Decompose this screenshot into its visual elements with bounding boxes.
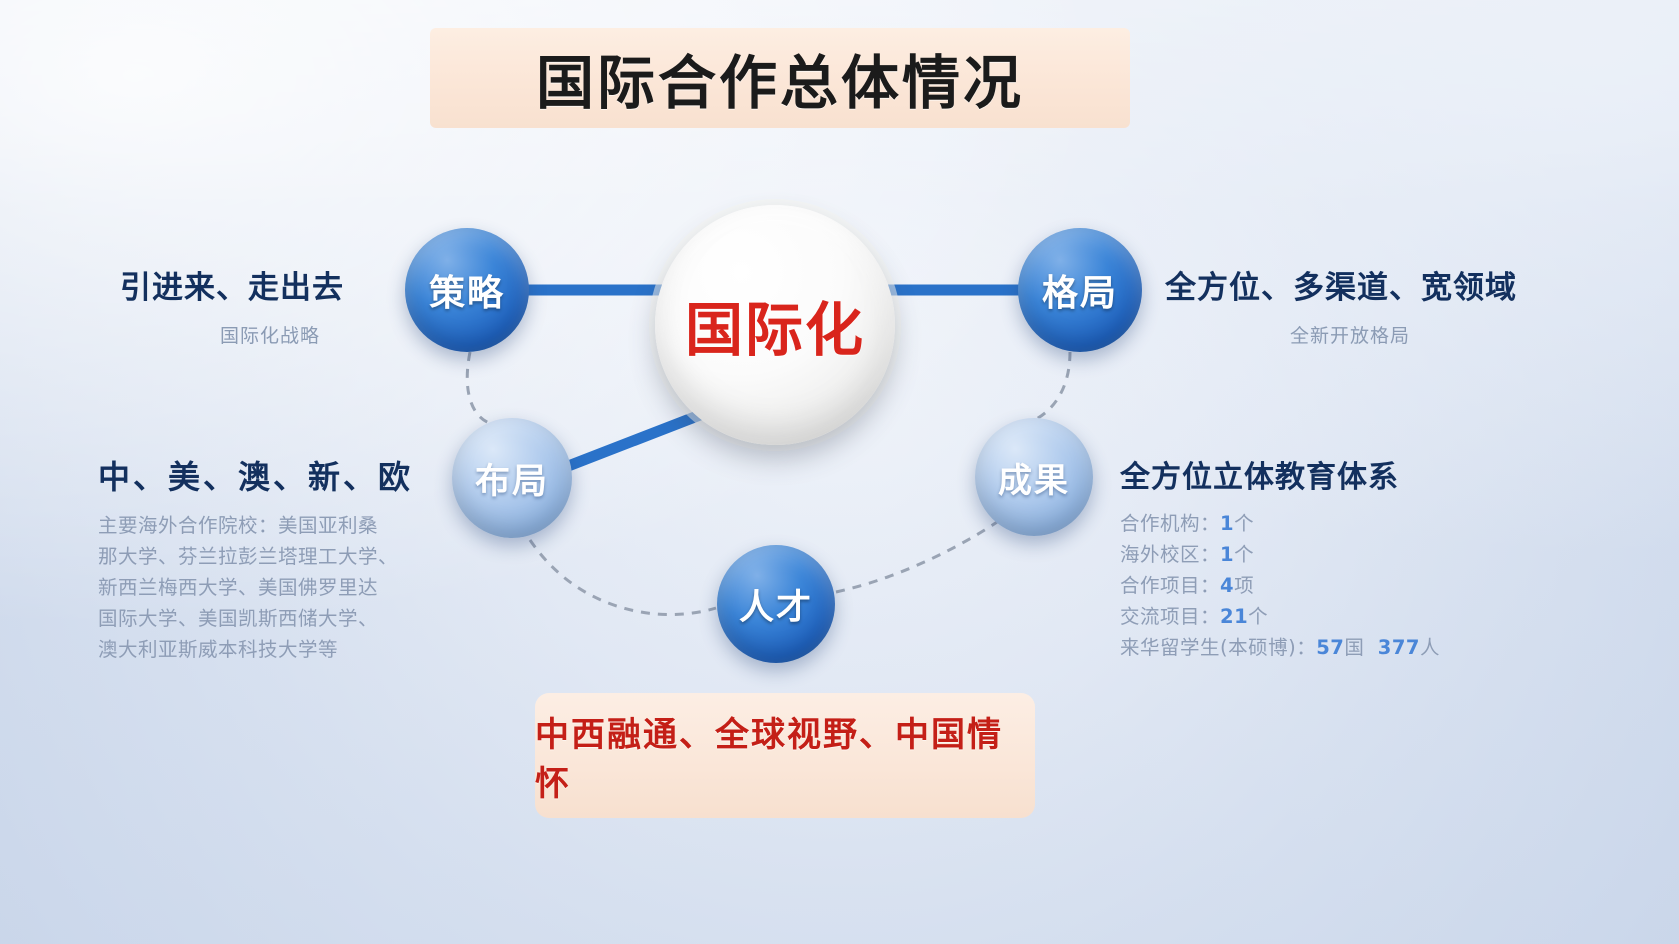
students-label: 来华留学生(本硕博)： <box>1120 636 1316 659</box>
students-country-count: 57 <box>1316 636 1344 659</box>
pattern-subtext: 全新开放格局 <box>1165 321 1535 348</box>
link-celue-buju <box>467 352 492 424</box>
stat-label: 合作项目： <box>1120 574 1220 597</box>
layout-line: 主要海外合作院校：美国亚利桑 <box>98 510 468 541</box>
link-buju-rencai <box>530 540 716 615</box>
results-heading: 全方位立体教育体系 <box>1120 452 1540 496</box>
node-celue-label: 策略 <box>429 264 505 316</box>
stat-unit: 个 <box>1248 605 1268 628</box>
stat-row-students: 来华留学生(本硕博)：57国 377人 <box>1120 632 1540 663</box>
link-rencai-chengguo <box>836 520 1000 592</box>
stat-value: 1 <box>1220 543 1234 566</box>
stat-label: 交流项目： <box>1120 605 1220 628</box>
block-layout: 中、美、澳、新、欧 主要海外合作院校：美国亚利桑 那大学、芬兰拉彭兰塔理工大学、… <box>98 452 468 665</box>
hub-label: 国际化 <box>685 283 865 367</box>
block-pattern: 全方位、多渠道、宽领域 全新开放格局 <box>1165 262 1535 348</box>
block-results: 全方位立体教育体系 合作机构：1个 海外校区：1个 合作项目：4项 交流项目：2… <box>1120 452 1540 663</box>
layout-partner-list: 主要海外合作院校：美国亚利桑 那大学、芬兰拉彭兰塔理工大学、 新西兰梅西大学、美… <box>98 510 468 665</box>
strategy-heading: 引进来、走出去 <box>120 262 420 307</box>
stat-row: 合作机构：1个 <box>1120 508 1540 539</box>
link-geju-chengguo <box>1030 352 1070 422</box>
slogan-text: 中西融通、全球视野、中国情怀 <box>535 707 1035 805</box>
slide-canvas: 国际合作总体情况 国际化 策略 格局 布局 成果 人才 引进来、走出去 国际化战… <box>0 0 1679 944</box>
results-stat-list: 合作机构：1个 海外校区：1个 合作项目：4项 交流项目：21个 来华留学生(本… <box>1120 508 1540 663</box>
stat-row: 交流项目：21个 <box>1120 601 1540 632</box>
layout-line: 澳大利亚斯威本科技大学等 <box>98 634 468 665</box>
node-chengguo[interactable]: 成果 <box>975 418 1093 536</box>
students-country-unit: 国 <box>1344 636 1364 659</box>
pattern-heading: 全方位、多渠道、宽领域 <box>1165 262 1535 307</box>
node-geju-label: 格局 <box>1042 264 1118 316</box>
slogan-banner: 中西融通、全球视野、中国情怀 <box>535 693 1035 818</box>
node-buju-label: 布局 <box>475 453 549 504</box>
stat-value: 1 <box>1220 512 1234 535</box>
stat-value: 4 <box>1220 574 1234 597</box>
link-hub-buju <box>558 415 700 470</box>
hub-node-internationalization[interactable]: 国际化 <box>655 205 895 445</box>
layout-line: 那大学、芬兰拉彭兰塔理工大学、 <box>98 541 468 572</box>
node-rencai[interactable]: 人才 <box>717 545 835 663</box>
node-celue[interactable]: 策略 <box>405 228 529 352</box>
stat-unit: 项 <box>1234 574 1254 597</box>
students-people-count: 377 <box>1378 636 1420 659</box>
stat-unit: 个 <box>1234 543 1254 566</box>
node-geju[interactable]: 格局 <box>1018 228 1142 352</box>
stat-row: 海外校区：1个 <box>1120 539 1540 570</box>
node-rencai-label: 人才 <box>739 579 813 630</box>
strategy-subtext: 国际化战略 <box>120 321 420 348</box>
students-people-unit: 人 <box>1420 636 1440 659</box>
stat-unit: 个 <box>1234 512 1254 535</box>
stat-label: 合作机构： <box>1120 512 1220 535</box>
layout-line: 新西兰梅西大学、美国佛罗里达 <box>98 572 468 603</box>
node-buju[interactable]: 布局 <box>452 418 572 538</box>
stat-row: 合作项目：4项 <box>1120 570 1540 601</box>
stat-label: 海外校区： <box>1120 543 1220 566</box>
block-strategy: 引进来、走出去 国际化战略 <box>120 262 420 348</box>
node-chengguo-label: 成果 <box>998 453 1070 502</box>
stat-value: 21 <box>1220 605 1248 628</box>
layout-line: 国际大学、美国凯斯西储大学、 <box>98 603 468 634</box>
layout-heading: 中、美、澳、新、欧 <box>98 452 468 498</box>
